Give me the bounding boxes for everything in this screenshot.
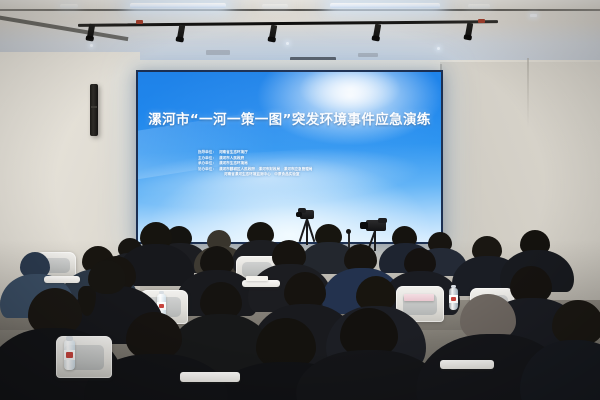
track-clip-left (136, 20, 143, 24)
led-strip-light-far-left (60, 4, 78, 8)
spotlight-4 (373, 24, 382, 40)
conference-room-photo: 漯河市“一河一策一图”突发环境事件应急演练 指导单位： 河南省生态环境厅 主办单… (0, 0, 600, 400)
water-bottle (449, 288, 458, 310)
desk-tablet (242, 280, 280, 287)
desk-tablet (44, 276, 80, 283)
ceiling-downlight-3 (437, 47, 440, 50)
pink-booklet (404, 294, 434, 301)
right-wall-corner (527, 58, 529, 128)
desk-tablet (440, 360, 494, 369)
wall-speaker (90, 84, 98, 136)
spotlight-2 (177, 25, 186, 41)
ceiling-downlight-1 (90, 44, 93, 47)
screen-surface: 漯河市“一河一策一图”突发环境事件应急演练 指导单位： 河南省生态环境厅 主办单… (138, 72, 441, 242)
credit-continuation: 河南省漯河生态环境监测中心 中原食品实验室 (198, 172, 418, 178)
spotlight-3 (269, 25, 278, 41)
led-strip-light-center (262, 4, 288, 8)
attendee-head-foreground (126, 312, 182, 360)
ceiling-downlight-4 (530, 14, 537, 17)
camera-lens (296, 212, 302, 217)
led-strip-light-left (130, 3, 226, 8)
ceiling-downlight-2 (286, 42, 289, 45)
ceiling-vent-2 (358, 53, 378, 57)
led-strip-light-far-right (468, 4, 490, 8)
slide-credits: 指导单位： 河南省生态环境厅 主办单位： 漯河市人民政府 承办单位： 漯河市生态… (198, 150, 418, 178)
camera-hood (378, 218, 387, 223)
desk-tablet (180, 372, 240, 382)
camera-lens (360, 222, 368, 229)
led-strip-light-right (330, 3, 440, 8)
credit-label: 协办单位： (198, 167, 216, 173)
slide-title: 漯河市“一河一策一图”突发环境事件应急演练 (138, 108, 441, 128)
spotlight-1 (87, 24, 96, 40)
desk-paper (246, 276, 268, 281)
bottle-cap (66, 336, 72, 341)
microphone-head (346, 229, 351, 234)
spotlight-5 (465, 23, 474, 39)
water-bottle (64, 340, 75, 370)
microphone-stand (348, 232, 350, 248)
bottle-label (449, 295, 458, 302)
led-screen: 漯河市“一河一策一图”突发环境事件应急演练 指导单位： 河南省生态环境厅 主办单… (136, 70, 443, 244)
bottle-label (64, 350, 75, 360)
ceiling-vent-1 (206, 50, 230, 55)
track-clip-right (478, 19, 485, 23)
